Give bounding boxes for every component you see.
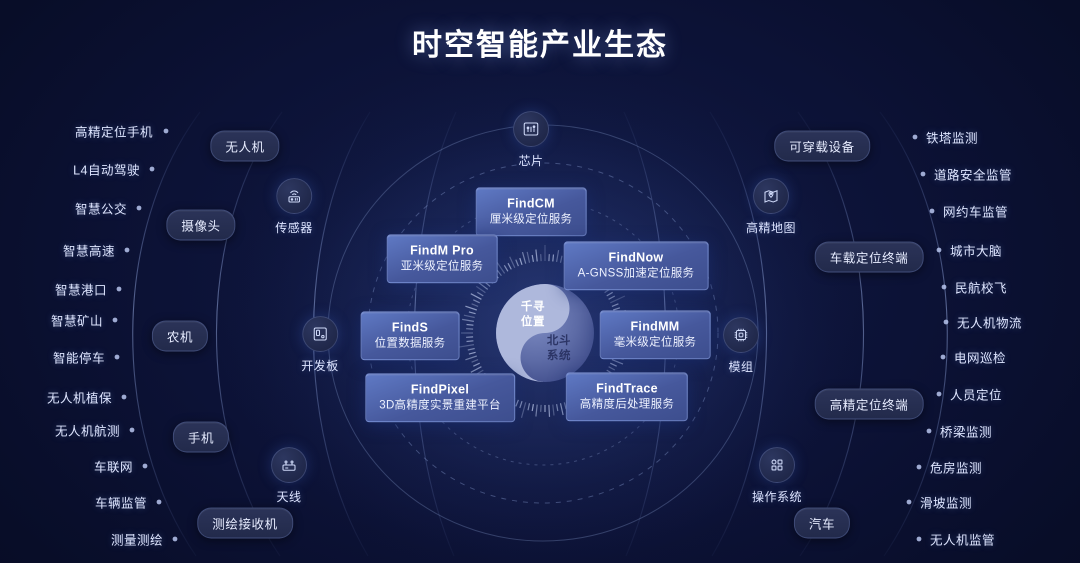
outer-label-无人机监管[interactable]: 无人机监管 bbox=[930, 530, 995, 549]
product-name: FindNow bbox=[578, 249, 695, 266]
outer-label-dot bbox=[122, 395, 127, 400]
product-box-findm-pro[interactable]: FindM Pro亚米级定位服务 bbox=[387, 234, 498, 283]
icon-node-label: 传感器 bbox=[275, 219, 313, 236]
outer-label-车辆监管[interactable]: 车辆监管 bbox=[95, 493, 147, 512]
outer-label-车联网[interactable]: 车联网 bbox=[94, 457, 133, 476]
outer-label-dot bbox=[143, 464, 148, 469]
outer-label-dot bbox=[907, 500, 912, 505]
icon-node-label: 操作系统 bbox=[752, 488, 802, 505]
chip-摄像头[interactable]: 摄像头 bbox=[166, 210, 235, 241]
icon-node-label: 高精地图 bbox=[746, 219, 796, 236]
outer-label-城市大脑[interactable]: 城市大脑 bbox=[950, 241, 1002, 260]
outer-label-铁塔监测[interactable]: 铁塔监测 bbox=[926, 128, 978, 147]
icon-node-传感器[interactable]: 传感器 bbox=[275, 178, 313, 236]
module-icon bbox=[723, 317, 759, 353]
outer-label-dot bbox=[115, 355, 120, 360]
outer-label-dot bbox=[173, 537, 178, 542]
product-box-findnow[interactable]: FindNowA-GNSS加速定位服务 bbox=[564, 241, 709, 290]
outer-label-智慧矿山[interactable]: 智慧矿山 bbox=[51, 311, 103, 330]
os-grid-icon bbox=[759, 447, 795, 483]
product-description: 3D高精度实景重建平台 bbox=[379, 398, 501, 414]
outer-label-dot bbox=[130, 428, 135, 433]
outer-label-dot bbox=[921, 172, 926, 177]
chip-手机[interactable]: 手机 bbox=[173, 422, 229, 453]
outer-label-dot bbox=[150, 167, 155, 172]
map-pin-icon bbox=[753, 178, 789, 214]
product-name: FindPixel bbox=[379, 381, 501, 398]
chip-可穿载设备[interactable]: 可穿载设备 bbox=[774, 131, 870, 162]
product-name: FindS bbox=[375, 319, 446, 336]
outer-label-道路安全监管[interactable]: 道路安全监管 bbox=[934, 165, 1012, 184]
outer-label-网约车监管[interactable]: 网约车监管 bbox=[943, 202, 1008, 221]
sensor-icon bbox=[276, 178, 312, 214]
outer-label-高精定位手机[interactable]: 高精定位手机 bbox=[75, 122, 153, 141]
icon-node-label: 芯片 bbox=[518, 152, 543, 169]
product-box-finds[interactable]: FindS位置数据服务 bbox=[361, 311, 460, 360]
product-name: FindTrace bbox=[580, 380, 674, 397]
outer-label-无人机物流[interactable]: 无人机物流 bbox=[957, 313, 1022, 332]
product-name: FindM Pro bbox=[401, 242, 484, 259]
outer-label-智能停车[interactable]: 智能停车 bbox=[53, 348, 105, 367]
outer-label-dot bbox=[913, 135, 918, 140]
product-box-findpixel[interactable]: FindPixel3D高精度实景重建平台 bbox=[365, 373, 515, 422]
product-description: A-GNSS加速定位服务 bbox=[578, 266, 695, 282]
outer-label-桥梁监测[interactable]: 桥梁监测 bbox=[940, 422, 992, 441]
icon-node-label: 天线 bbox=[276, 488, 301, 505]
icon-node-高精地图[interactable]: 高精地图 bbox=[746, 178, 796, 236]
outer-label-dot bbox=[941, 355, 946, 360]
devboard-icon bbox=[302, 316, 338, 352]
outer-label-智慧高速[interactable]: 智慧高速 bbox=[63, 241, 115, 260]
outer-label-民航校飞[interactable]: 民航校飞 bbox=[955, 278, 1007, 297]
product-box-findcm[interactable]: FindCM厘米级定位服务 bbox=[476, 187, 587, 236]
outer-label-滑坡监测[interactable]: 滑坡监测 bbox=[920, 493, 972, 512]
outer-label-电网巡检[interactable]: 电网巡检 bbox=[954, 348, 1006, 367]
chip-高精定位终端[interactable]: 高精定位终端 bbox=[815, 389, 924, 420]
product-description: 厘米级定位服务 bbox=[490, 212, 573, 228]
outer-label-危房监测[interactable]: 危房监测 bbox=[930, 458, 982, 477]
product-name: FindCM bbox=[490, 195, 573, 212]
outer-label-dot bbox=[164, 129, 169, 134]
outer-label-dot bbox=[937, 392, 942, 397]
outer-label-无人机航测[interactable]: 无人机航测 bbox=[55, 421, 120, 440]
infographic-canvas: 时空智能产业生态 bbox=[0, 0, 1080, 563]
icon-node-操作系统[interactable]: 操作系统 bbox=[752, 447, 802, 505]
product-name: FindMM bbox=[614, 318, 697, 335]
core-top-label: 千寻位置 bbox=[511, 300, 555, 330]
product-description: 亚米级定位服务 bbox=[401, 259, 484, 275]
outer-label-无人机植保[interactable]: 无人机植保 bbox=[47, 388, 112, 407]
product-box-findmm[interactable]: FindMM毫米级定位服务 bbox=[600, 310, 711, 359]
outer-label-dot bbox=[125, 248, 130, 253]
outer-label-测量测绘[interactable]: 测量测绘 bbox=[111, 530, 163, 549]
chip-测绘接收机[interactable]: 测绘接收机 bbox=[197, 508, 293, 539]
outer-label-dot bbox=[937, 248, 942, 253]
icon-node-label: 模组 bbox=[728, 358, 753, 375]
chip-车载定位终端[interactable]: 车载定位终端 bbox=[815, 242, 924, 273]
outer-label-dot bbox=[930, 209, 935, 214]
outer-label-dot bbox=[927, 429, 932, 434]
icon-node-label: 开发板 bbox=[301, 357, 339, 374]
outer-label-dot bbox=[944, 320, 949, 325]
product-description: 毫米级定位服务 bbox=[614, 335, 697, 351]
antenna-icon bbox=[271, 447, 307, 483]
outer-label-dot bbox=[113, 318, 118, 323]
outer-label-dot bbox=[137, 206, 142, 211]
chip-农机[interactable]: 农机 bbox=[152, 321, 208, 352]
icon-node-天线[interactable]: 天线 bbox=[271, 447, 307, 505]
outer-label-dot bbox=[917, 465, 922, 470]
core-labels: 千寻位置 北斗系统 bbox=[497, 282, 593, 378]
chip-无人机[interactable]: 无人机 bbox=[210, 131, 279, 162]
outer-label-智慧公交[interactable]: 智慧公交 bbox=[75, 199, 127, 218]
core-bottom-label: 北斗系统 bbox=[537, 334, 581, 364]
outer-label-dot bbox=[917, 537, 922, 542]
icon-node-开发板[interactable]: 开发板 bbox=[301, 316, 339, 374]
outer-label-智慧港口[interactable]: 智慧港口 bbox=[55, 280, 107, 299]
icon-node-芯片[interactable]: 芯片 bbox=[513, 111, 549, 169]
outer-label-L4自动驾驶[interactable]: L4自动驾驶 bbox=[73, 160, 140, 179]
product-description: 位置数据服务 bbox=[375, 336, 446, 352]
outer-label-dot bbox=[157, 500, 162, 505]
outer-label-人员定位[interactable]: 人员定位 bbox=[950, 385, 1002, 404]
product-description: 高精度后处理服务 bbox=[580, 397, 674, 413]
icon-node-模组[interactable]: 模组 bbox=[723, 317, 759, 375]
outer-label-dot bbox=[117, 287, 122, 292]
product-box-findtrace[interactable]: FindTrace高精度后处理服务 bbox=[566, 372, 688, 421]
outer-label-dot bbox=[942, 285, 947, 290]
chip-frame-icon bbox=[513, 111, 549, 147]
chip-汽车[interactable]: 汽车 bbox=[794, 508, 850, 539]
